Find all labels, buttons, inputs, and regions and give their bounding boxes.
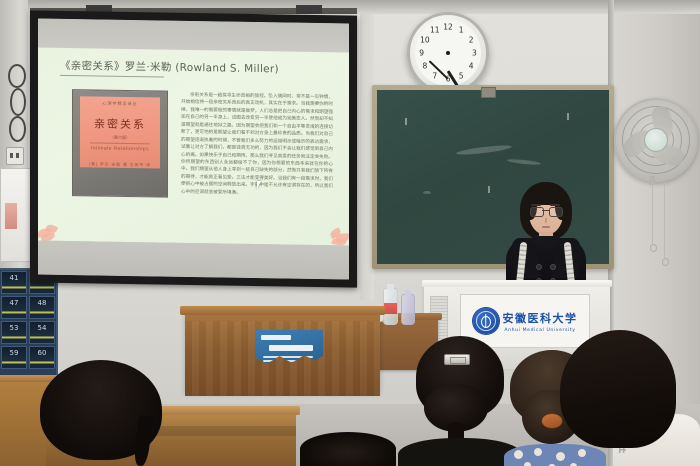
clock-face: 12 1 2 3 4 5 6 7 8 9 10 11 <box>415 20 481 86</box>
slide-title: 《亲密关系》罗兰·米勒 (Rowland S. Miller) <box>60 58 339 77</box>
clock-numeral: 11 <box>430 25 440 34</box>
university-emblem-icon <box>473 308 499 334</box>
classroom-scene: 41 42 47 48 53 54 59 60 《亲密关系》罗兰·米勒 (Row… <box>0 0 700 466</box>
fan-pull-cord[interactable] <box>664 182 665 258</box>
fan-hub <box>644 128 668 152</box>
presenter-nose <box>545 218 547 223</box>
fan-pull-knob[interactable] <box>650 244 657 252</box>
presentation-slide: 《亲密关系》罗兰·米勒 (Rowland S. Miller) 心理学精品译丛 … <box>38 48 349 246</box>
screen-letterbox-bottom <box>38 241 349 280</box>
locker-cell[interactable]: 54 <box>29 321 55 344</box>
book-title-en: Intimate Relationships <box>91 145 149 152</box>
book-series-label: 心理学精品译丛 <box>103 101 138 108</box>
clock-numeral: 8 <box>423 61 428 70</box>
clock-numeral: 3 <box>472 49 477 58</box>
glasses-lens-right-icon <box>549 207 563 217</box>
front-desk <box>185 312 380 396</box>
water-bottle[interactable] <box>383 288 398 325</box>
locker-row: 47 48 <box>0 295 56 320</box>
chalkboard-clip <box>481 87 496 98</box>
locker-cell[interactable]: 41 <box>1 271 27 294</box>
clock-numeral: 7 <box>432 72 437 81</box>
book-title-cn: 亲密关系 <box>94 115 146 132</box>
locker-cell[interactable]: 47 <box>1 296 27 319</box>
audience-long-hair <box>560 330 676 448</box>
locker-row: 53 54 <box>0 320 56 345</box>
slide-title-rule <box>60 75 164 78</box>
wall-fan <box>614 98 694 178</box>
locker-number: 59 <box>2 349 26 357</box>
locker-number: 60 <box>30 349 54 357</box>
presenter-eyebrow-left <box>531 204 541 206</box>
presenter <box>498 182 594 294</box>
locker-cell[interactable]: 59 <box>1 346 27 369</box>
locker-number: 48 <box>30 299 54 307</box>
fan-pull-knob[interactable] <box>662 258 669 266</box>
clock-numeral: 4 <box>469 61 474 70</box>
clock-numeral: 1 <box>459 25 464 34</box>
corner-flourish-left-icon <box>38 223 64 241</box>
front-desk-top <box>180 306 385 315</box>
audience-front-left <box>40 360 162 466</box>
locker-number: 47 <box>2 299 26 307</box>
clock-numeral: 2 <box>469 36 474 45</box>
projection-screen[interactable]: 《亲密关系》罗兰·米勒 (Rowland S. Miller) 心理学精品译丛 … <box>30 10 357 287</box>
hair-clip-icon <box>444 354 470 365</box>
wall-clock: 12 1 2 3 4 5 6 7 8 9 10 11 <box>407 12 489 94</box>
locker-number: 53 <box>2 324 26 332</box>
fan-pull-cord[interactable] <box>652 182 653 244</box>
university-name-cn: 安徽医科大学 <box>503 310 578 326</box>
clock-numeral: 5 <box>459 72 464 81</box>
clock-numeral: 10 <box>420 36 430 45</box>
cable-hook-icon <box>6 62 28 152</box>
coat-button <box>550 264 556 270</box>
book-authors: [美] 罗兰·米勒 著 王伟平 译 <box>89 161 151 168</box>
glasses-bridge-icon <box>542 210 549 211</box>
glasses-lens-left-icon <box>530 207 544 217</box>
locker-cell[interactable]: 48 <box>29 296 55 319</box>
bottle-cap <box>387 284 394 290</box>
fan-cage <box>614 98 698 182</box>
audience-head <box>300 432 396 466</box>
locker-number: 54 <box>30 324 54 332</box>
side-whiteboard <box>0 168 32 262</box>
whiteboard-poster <box>5 203 17 229</box>
coat-collar <box>532 236 560 248</box>
hair-tie-icon <box>542 414 562 428</box>
presenter-eyebrow-right <box>550 204 560 206</box>
power-outlet[interactable] <box>6 147 24 165</box>
audience-bottom <box>300 432 396 466</box>
bottle-cap <box>405 290 411 296</box>
book-cover-image: 心理学精品译丛 亲密关系 （第六版） Intimate Relationship… <box>72 89 168 198</box>
clock-numeral: 9 <box>419 49 424 58</box>
clock-numeral: 12 <box>443 22 453 31</box>
lectern-top <box>422 280 612 287</box>
locker-cell[interactable]: 53 <box>1 321 27 344</box>
book-cover-divider <box>90 142 150 144</box>
corner-flourish-right-icon <box>323 227 349 245</box>
book-cover-inner: 心理学精品译丛 亲密关系 （第六版） Intimate Relationship… <box>80 96 160 168</box>
audience-right <box>560 330 700 466</box>
book-edition: （第六版） <box>110 135 130 141</box>
bottle-label <box>384 303 397 314</box>
presenter-mouth <box>542 226 550 228</box>
screen-surface: 《亲密关系》罗兰·米勒 (Rowland S. Miller) 心理学精品译丛 … <box>38 19 349 280</box>
coat-button <box>536 264 542 270</box>
spray-bottle[interactable] <box>401 294 415 325</box>
audience-center-left <box>408 336 512 466</box>
locker-number: 41 <box>2 274 26 282</box>
clock-center-pin <box>446 51 450 55</box>
screen-mount-right <box>296 5 322 14</box>
mouse-cursor-icon <box>257 181 264 189</box>
